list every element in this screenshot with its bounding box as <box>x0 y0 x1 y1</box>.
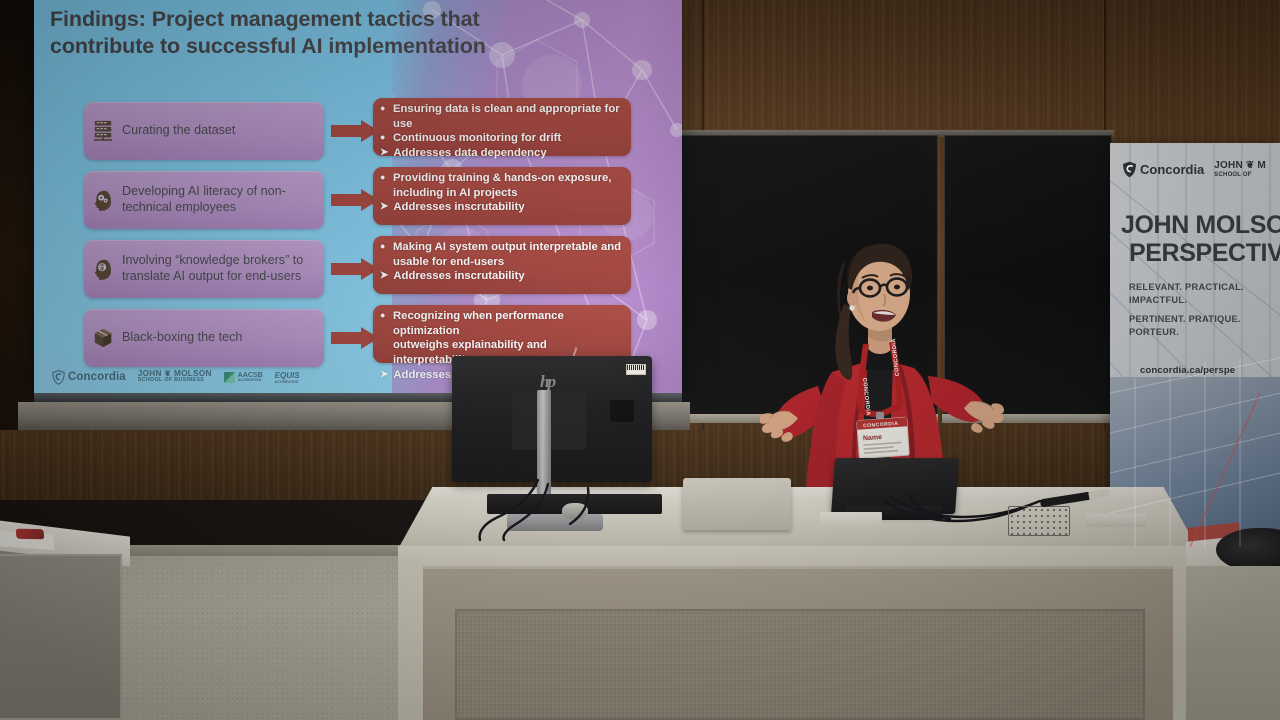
equis-logo-sub: ACCREDITED <box>275 380 300 384</box>
john-molson-logo-line-2: SCHOOL OF BUSINESS <box>138 378 212 384</box>
detail-bullet: ● Making AI system output interpretable … <box>380 240 624 255</box>
presentation-slide: Findings: Project management tactics tha… <box>34 0 682 395</box>
box-3d-icon <box>91 325 115 351</box>
addresses-line: ➤ Addresses data dependency <box>380 146 624 161</box>
banner-grid-overlay <box>1110 143 1280 547</box>
laptop-closed[interactable] <box>683 478 791 530</box>
asset-tag-label <box>626 364 646 375</box>
equis-logo-name: EQUIS <box>275 371 300 380</box>
detail-bullet-text: Recognizing when performance optimizatio… <box>393 309 624 338</box>
tactic-label: Black-boxing the tech <box>122 330 242 346</box>
flow-arrow-icon <box>331 327 379 349</box>
banner-logo-row: Concordia JOHN ❦ M SCHOOL OF <box>1122 161 1266 178</box>
addresses-prefix: Addresses <box>393 369 454 381</box>
database-stack-icon <box>91 118 115 144</box>
detail-bullet: ● Continuous monitoring for drift <box>380 131 624 146</box>
addresses-term: data dependency <box>454 147 546 159</box>
detail-bullet-text: Continuous monitoring for drift <box>393 131 561 146</box>
banner-headline-line-1: JOHN MOLSO <box>1121 211 1280 240</box>
banner-url: concordia.ca/perspe <box>1140 365 1235 376</box>
tactic-label-line-1: Involving “knowledge brokers” to <box>122 253 303 267</box>
tactic-box: Curating the dataset <box>84 102 324 160</box>
addresses-term: inscrutability <box>454 270 524 282</box>
marker-basket[interactable] <box>1008 506 1070 536</box>
flow-arrow-icon <box>331 120 379 142</box>
detail-bullet-text: Making AI system output interpretable an… <box>393 240 621 255</box>
flow-arrow-icon <box>331 189 379 211</box>
aacsb-logo-sub: ACCREDITED <box>238 379 263 383</box>
banner-tagline-french: PERTINENT. PRATIQUE. PORTEUR. <box>1129 313 1241 338</box>
slide-row: Curating the dataset ● Ensuring data is … <box>46 98 626 164</box>
addresses-line: ➤ Addresses inscrutability <box>380 200 624 215</box>
chevron-right-icon: ➤ <box>380 146 388 161</box>
slide-title-line-1: Findings: Project management tactics tha… <box>50 6 520 33</box>
banner-jm-line-1: JOHN ❦ M <box>1214 161 1266 172</box>
detail-bullet: ● Recognizing when performance optimizat… <box>380 309 624 338</box>
paper-stack <box>820 512 882 528</box>
bullet-icon: ● <box>380 240 388 253</box>
tactic-box: Developing AI literacy of non- technical… <box>84 171 324 229</box>
tactic-box: Involving “knowledge brokers” to transla… <box>84 240 324 298</box>
aacsb-mark-icon <box>224 372 235 383</box>
hp-monitor-rear: hp <box>452 356 652 482</box>
addresses-prefix: Addresses <box>393 147 454 159</box>
side-counter-right <box>1186 530 1280 720</box>
detail-bullet-continuation: including in AI projects <box>380 186 624 201</box>
chevron-right-icon: ➤ <box>380 368 388 383</box>
concordia-logo: Concordia <box>52 370 126 385</box>
addresses-prefix: Addresses <box>393 270 454 282</box>
flow-arrow-icon <box>331 258 379 280</box>
bullet-icon: ● <box>380 131 388 144</box>
svg-text:Name: Name <box>863 434 883 442</box>
side-counter-left <box>0 528 130 720</box>
slide-title-line-2: contribute to successful AI implementati… <box>50 33 520 60</box>
presentation-photo-scene: Findings: Project management tactics tha… <box>0 0 1280 720</box>
counter-left-side-panel <box>0 554 122 720</box>
banner-jm-line-2: SCHOOL OF <box>1214 172 1266 178</box>
tactic-label: Involving “knowledge brokers” to transla… <box>122 253 303 285</box>
tactic-label: Curating the dataset <box>122 123 235 139</box>
slide-title: Findings: Project management tactics tha… <box>50 6 520 61</box>
head-gears-icon <box>91 187 115 213</box>
banner-headline-line-2: PERSPECTIVE <box>1129 239 1280 268</box>
detail-box: ● Making AI system output interpretable … <box>373 236 631 294</box>
chevron-right-icon: ➤ <box>380 269 388 284</box>
presenter: CONCORDIA CONCORDIA CONCORDIA Name <box>760 216 1010 496</box>
desk-cables <box>470 480 650 540</box>
tactic-label-line-1: Developing AI literacy of non- <box>122 184 286 198</box>
addresses-term: inscrutability <box>454 201 524 213</box>
concordia-shield-icon <box>52 370 65 385</box>
detail-box: ● Ensuring data is clean and appropriate… <box>373 98 631 156</box>
detail-bullet-continuation: usable for end-users <box>380 255 624 270</box>
banner-tagline-fr-line-1: PERTINENT. PRATIQUE. <box>1129 313 1241 326</box>
john-molson-logo: JOHN ❦ MOLSON SCHOOL OF BUSINESS <box>138 370 212 384</box>
concordia-shield-icon <box>1122 161 1137 178</box>
desk-perforated-mesh-panel <box>455 609 1145 720</box>
tactic-label-line-2: technical employees <box>122 200 236 214</box>
tactic-label: Developing AI literacy of non- technical… <box>122 184 286 216</box>
concordia-logo-text: Concordia <box>68 371 126 383</box>
detail-bullet-text: Providing training & hands-on exposure, <box>393 171 611 186</box>
tactic-label-line-2: translate AI output for end-users <box>122 269 301 283</box>
bullet-icon: ● <box>380 171 388 184</box>
slide-row: Involving “knowledge brokers” to transla… <box>46 236 626 302</box>
detail-bullet: ● Providing training & hands-on exposure… <box>380 171 624 186</box>
counter-right-side-panel <box>1186 566 1280 720</box>
slide-rows: Curating the dataset ● Ensuring data is … <box>46 98 626 374</box>
banner-tagline-fr-line-2: PORTEUR. <box>1129 326 1241 339</box>
banner-tagline-en-line-2: IMPACTFUL. <box>1129 294 1244 307</box>
equis-logo: EQUIS ACCREDITED <box>275 371 300 384</box>
banner-concordia-logo: Concordia <box>1122 161 1204 178</box>
projection-screen: Findings: Project management tactics tha… <box>34 0 682 395</box>
addresses-prefix: Addresses <box>393 201 454 213</box>
slide-row: Developing AI literacy of non- technical… <box>46 167 626 233</box>
detail-bullet-text: Ensuring data is clean and appropriate f… <box>393 102 624 131</box>
bullet-icon: ● <box>380 309 388 322</box>
banner-tagline-en-line-1: RELEVANT. PRACTICAL. <box>1129 281 1244 294</box>
bullet-icon: ● <box>380 102 388 115</box>
chevron-right-icon: ➤ <box>380 200 388 215</box>
addresses-line: ➤ Addresses inscrutability <box>380 269 624 284</box>
john-molson-perspectives-banner: Concordia JOHN ❦ M SCHOOL OF JOHN MOLSO … <box>1110 143 1280 547</box>
banner-john-molson-logo: JOHN ❦ M SCHOOL OF <box>1214 161 1266 178</box>
counter-left-red-object <box>16 529 45 540</box>
monitor-port-cover <box>610 400 634 422</box>
head-brain-icon <box>91 256 115 282</box>
aacsb-logo: AACSB ACCREDITED <box>224 372 263 383</box>
detail-box: ● Recognizing when performance optimizat… <box>373 305 631 363</box>
tactic-box: Black-boxing the tech <box>84 309 324 367</box>
wall-dark-edge <box>0 0 34 430</box>
slide-footer-logos: Concordia JOHN ❦ MOLSON SCHOOL OF BUSINE… <box>52 365 352 389</box>
detail-bullet: ● Ensuring data is clean and appropriate… <box>380 102 624 131</box>
banner-concordia-text: Concordia <box>1140 162 1204 177</box>
banner-tagline-english: RELEVANT. PRACTICAL. IMPACTFUL. <box>1129 281 1244 306</box>
hp-logo: hp <box>540 372 554 392</box>
detail-box: ● Providing training & hands-on exposure… <box>373 167 631 225</box>
